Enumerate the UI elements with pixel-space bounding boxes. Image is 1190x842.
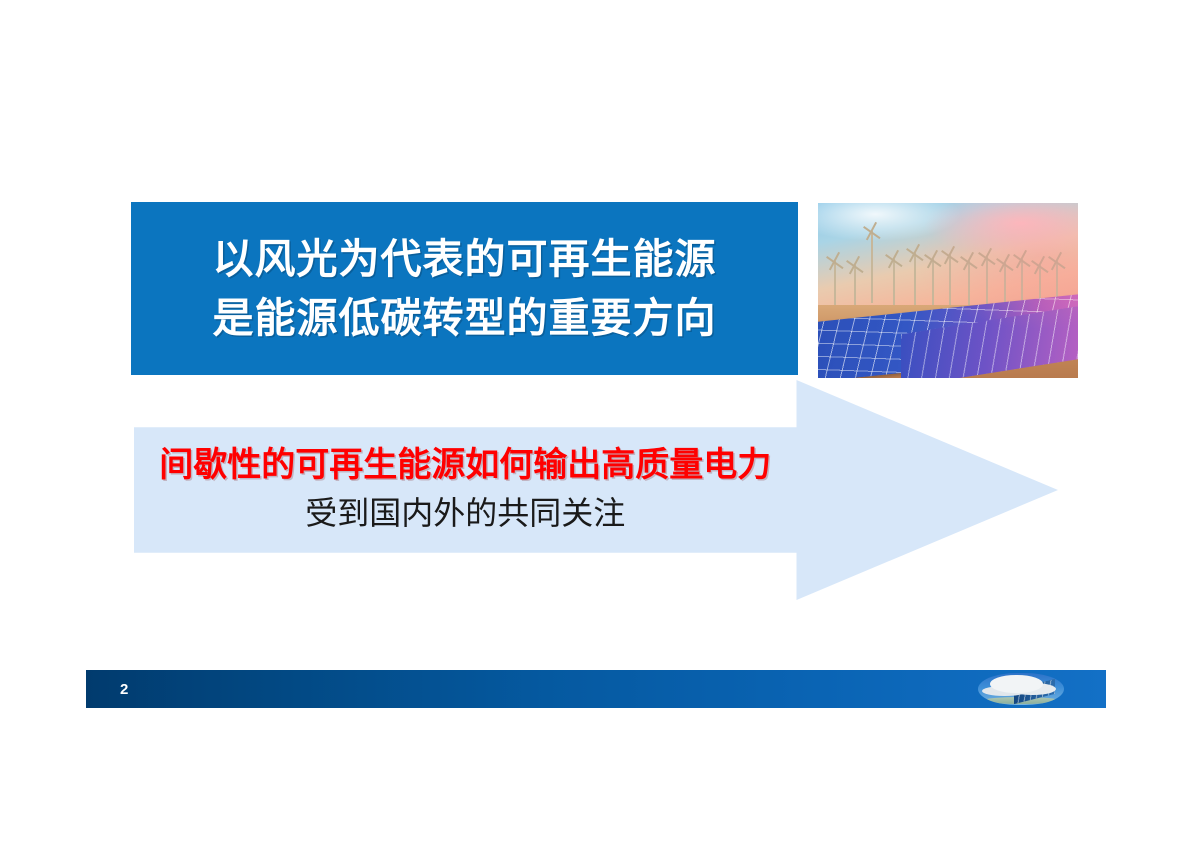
title-line-1: 以风光为代表的可再生能源: [213, 230, 717, 288]
title-line-2: 是能源低碳转型的重要方向: [213, 289, 717, 347]
turbine-icon: [871, 231, 873, 303]
turbine-icon: [914, 253, 916, 305]
turbine-icon: [986, 257, 988, 305]
callout-headline: 间歇性的可再生能源如何输出高质量电力: [159, 445, 771, 486]
turbine-icon: [1021, 259, 1023, 305]
cloud-solar-logo-icon: [978, 673, 1064, 705]
slide-number: 2: [120, 682, 128, 697]
arrow-text-block: 间歇性的可再生能源如何输出高质量电力 受到国内外的共同关注: [134, 427, 797, 552]
title-banner: 以风光为代表的可再生能源 是能源低碳转型的重要方向: [131, 202, 798, 375]
turbine-icon: [949, 255, 951, 305]
turbine-icon: [854, 265, 856, 305]
turbine-icon: [834, 261, 836, 305]
slide-canvas: 以风光为代表的可再生能源 是能源低碳转型的重要方向 间歇性的可再生能源如何输出高…: [0, 0, 1190, 842]
turbine-icon: [932, 259, 934, 305]
arrow-callout: 间歇性的可再生能源如何输出高质量电力 受到国内外的共同关注: [134, 380, 1058, 600]
wind-solar-photo: [818, 203, 1078, 378]
footer-bar: 2: [86, 670, 1106, 708]
turbine-icon: [968, 261, 970, 305]
turbine-icon: [893, 259, 895, 305]
callout-subline: 受到国内外的共同关注: [305, 493, 625, 535]
turbine-icon: [1004, 263, 1006, 305]
